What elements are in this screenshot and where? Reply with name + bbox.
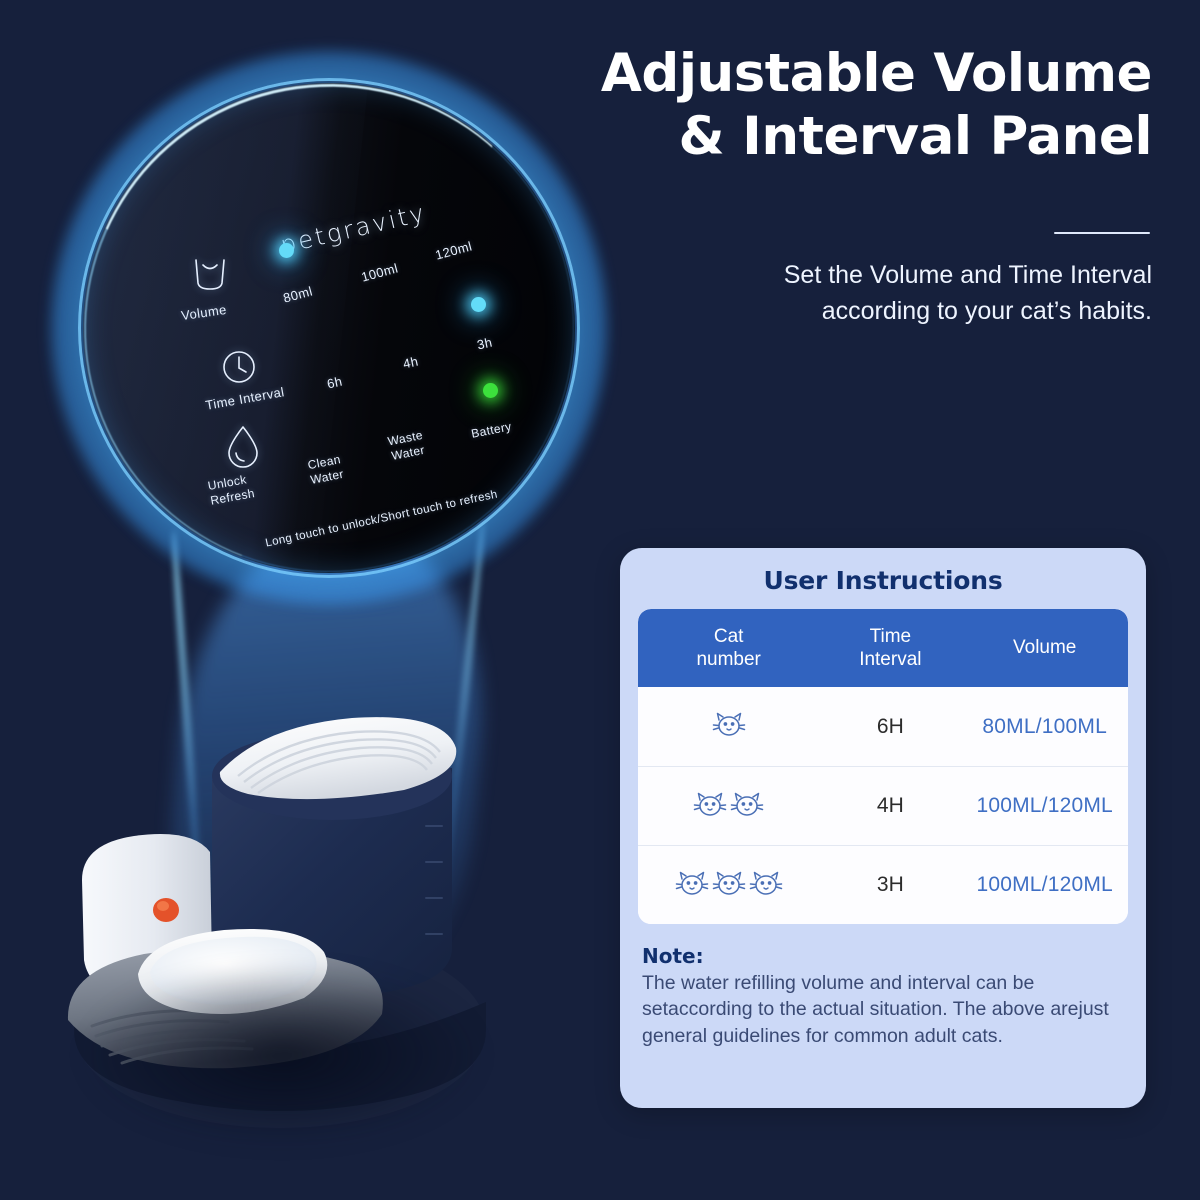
column-header-time-interval: Time Interval xyxy=(819,625,961,671)
water-drop-icon xyxy=(223,423,263,469)
volume-cell: 100ML/120ML xyxy=(961,873,1128,897)
waste-water-line2: Water xyxy=(390,443,426,463)
promo-banner: petgravity Volume 80ml 100ml 120ml Time … xyxy=(0,0,1200,1200)
brand-logo: petgravity xyxy=(278,199,429,260)
cat-face-icon xyxy=(712,870,746,901)
battery-led xyxy=(483,383,498,398)
user-instructions-card: User Instructions Cat number Time Interv… xyxy=(620,548,1146,1108)
interval-led xyxy=(471,297,486,312)
subtitle-line-1: Set the Volume and Time Interval xyxy=(784,261,1152,289)
table-header-row: Cat number Time Interval Volume xyxy=(638,609,1128,687)
unlock-label-line1: Unlock xyxy=(207,472,248,493)
table-row: 4H 100ML/120ML xyxy=(638,766,1128,845)
cat-count-cell xyxy=(638,791,819,822)
column-header-cat-number: Cat number xyxy=(638,625,819,671)
subtitle-line-2: according to your cat’s habits. xyxy=(822,297,1152,325)
clock-icon xyxy=(219,347,259,387)
instructions-table: Cat number Time Interval Volume 6H 80ML/… xyxy=(638,609,1128,924)
unlock-label-line2: Refresh xyxy=(209,486,256,508)
time-interval-line2: Interval xyxy=(859,649,921,670)
note-label: Note: xyxy=(642,944,1124,968)
panel-hint: Long touch to unlock/Short touch to refr… xyxy=(264,488,498,549)
table-row: 6H 80ML/100ML xyxy=(638,687,1128,766)
subtitle: Set the Volume and Time Interval accordi… xyxy=(592,258,1152,329)
clean-water-line2: Water xyxy=(309,467,345,487)
page-title: Adjustable Volume & Interval Panel xyxy=(552,42,1152,168)
volume-led xyxy=(279,243,294,258)
product-water-fountain xyxy=(52,630,542,1170)
volume-cell: 80ML/100ML xyxy=(961,715,1128,739)
volume-label: Volume xyxy=(180,302,227,323)
note-section: Note: The water refilling volume and int… xyxy=(620,924,1146,1049)
panel-rim xyxy=(78,78,580,578)
volume-option-120ml: 120ml xyxy=(434,238,474,262)
cat-number-line1: Cat xyxy=(714,626,744,647)
waste-water-line1: Waste xyxy=(386,428,424,449)
title-divider xyxy=(1054,232,1150,234)
clean-water-line1: Clean xyxy=(307,452,342,472)
interval-cell: 4H xyxy=(819,794,961,818)
cat-number-line2: number xyxy=(696,649,760,670)
volume-cell: 100ML/120ML xyxy=(961,794,1128,818)
time-interval-label: Time Interval xyxy=(204,384,285,413)
cat-count-cell xyxy=(638,870,819,901)
time-option-4h: 4h xyxy=(402,354,420,372)
cat-face-icon xyxy=(730,791,764,822)
time-interval-line1: Time xyxy=(870,626,912,647)
note-body: The water refilling volume and interval … xyxy=(642,970,1124,1049)
cup-icon xyxy=(189,255,231,295)
time-option-3h: 3h xyxy=(476,335,494,353)
waste-water-label: Waste Water xyxy=(386,428,427,464)
column-header-volume: Volume xyxy=(961,636,1128,659)
title-line-2: & Interval Panel xyxy=(678,106,1152,167)
panel-rim-highlight xyxy=(26,26,632,630)
cat-face-icon xyxy=(749,870,783,901)
panel-face: petgravity Volume 80ml 100ml 120ml Time … xyxy=(83,83,575,573)
time-option-6h: 6h xyxy=(326,374,344,392)
cat-face-icon xyxy=(675,870,709,901)
clean-water-label: Clean Water xyxy=(306,452,345,488)
control-panel-magnified: petgravity Volume 80ml 100ml 120ml Time … xyxy=(78,78,580,578)
volume-option-80ml: 80ml xyxy=(282,283,315,305)
panel-glow xyxy=(52,52,606,604)
table-row: 3H 100ML/120ML xyxy=(638,845,1128,924)
interval-cell: 3H xyxy=(819,873,961,897)
unlock-label: Unlock Refresh xyxy=(207,471,256,508)
cat-face-icon xyxy=(693,791,727,822)
interval-cell: 6H xyxy=(819,715,961,739)
cat-count-cell xyxy=(638,711,819,742)
cat-face-icon xyxy=(712,711,746,742)
volume-option-100ml: 100ml xyxy=(360,260,400,284)
title-line-1: Adjustable Volume xyxy=(601,43,1152,104)
card-title: User Instructions xyxy=(620,548,1146,609)
battery-label: Battery xyxy=(470,419,513,441)
